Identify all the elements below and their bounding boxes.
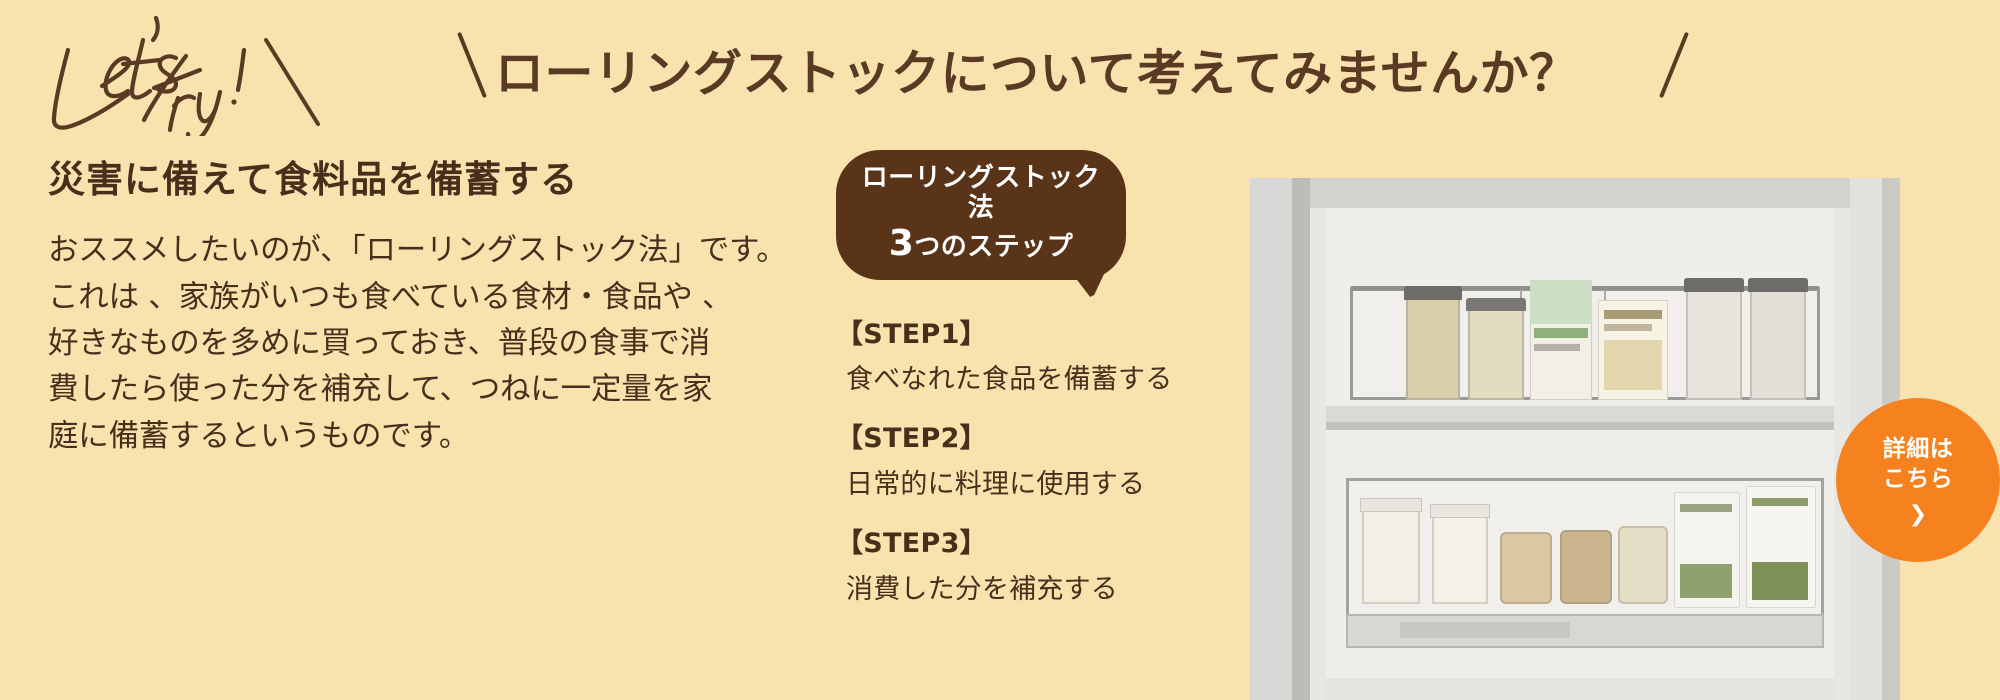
steps-column: ローリングストック法 3つのステップ 【STEP1】 食べなれた食品を備蓄する …: [836, 150, 1166, 606]
rolling-stock-banner: ローリングストックについて考えてみませんか？ 災害に備えて食料品を備蓄する おス…: [0, 0, 2000, 700]
lets-try-script-logo: [28, 6, 388, 136]
cta-label-line-1: 詳細は: [1883, 435, 1954, 465]
bubble-step-count: 3: [889, 223, 915, 264]
step-text: 食べなれた食品を備蓄する: [836, 357, 1166, 396]
pantry-photo: [1250, 178, 1900, 700]
photo-cabinet-left-shadow: [1292, 178, 1310, 700]
photo-jar-cereal: [1468, 308, 1524, 400]
photo-cabinet-left-wall: [1250, 178, 1292, 700]
photo-pouch-label: [1680, 504, 1732, 512]
photo-pouch-band: [1680, 564, 1732, 598]
photo-jar-lid: [1466, 298, 1526, 311]
photo-drawer-label: [1400, 622, 1570, 638]
step-item: 【STEP2】 日常的に料理に使用する: [836, 422, 1166, 501]
photo-jar-lid: [1684, 278, 1744, 292]
steps-list: 【STEP1】 食べなれた食品を備蓄する 【STEP2】 日常的に料理に使用する…: [836, 318, 1166, 606]
photo-canister-lid: [1360, 498, 1422, 512]
three-steps-speech-bubble: ローリングストック法 3つのステップ: [836, 150, 1126, 280]
photo-canister-white: [1362, 508, 1420, 604]
banner-header: ローリングストックについて考えてみませんか？: [0, 0, 2000, 140]
photo-jar-lid: [1748, 278, 1808, 292]
step-label: 【STEP3】: [836, 527, 1166, 561]
chevron-right-icon: ❯: [1909, 503, 1927, 525]
photo-jar-grains: [1406, 296, 1460, 400]
bubble-step-count-suffix: つのステップ: [914, 232, 1073, 262]
photo-box-label-green: [1530, 280, 1592, 324]
photo-canister-lid: [1430, 504, 1490, 518]
photo-jar-small: [1618, 526, 1668, 604]
step-item: 【STEP1】 食べなれた食品を備蓄する: [836, 318, 1166, 397]
photo-shelf-board: [1326, 406, 1834, 422]
photo-jar-small: [1560, 530, 1612, 604]
photo-pouch-band: [1752, 562, 1808, 600]
photo-jar-clear: [1686, 288, 1742, 400]
photo-canister-white: [1432, 514, 1488, 604]
body-line: おススメしたいのが、「ローリングストック法」です。: [48, 228, 668, 274]
photo-shelf-board-edge: [1326, 422, 1834, 430]
bubble-line-1: ローリングストック法: [854, 164, 1108, 224]
details-cta-button[interactable]: 詳細は こちら ❯: [1836, 398, 2000, 562]
photo-cabinet-top-panel: [1310, 178, 1850, 208]
step-label: 【STEP1】: [836, 318, 1166, 352]
photo-jar-lid: [1404, 286, 1462, 300]
bubble-line-2: 3つのステップ: [854, 226, 1108, 264]
body-paragraph: おススメしたいのが、「ローリングストック法」です。 これは 、家族がいつも食べて…: [48, 228, 668, 460]
photo-box-illustration: [1604, 340, 1662, 390]
step-text: 日常的に料理に使用する: [836, 462, 1166, 501]
photo-box-text-line: [1534, 344, 1580, 351]
left-text-column: 災害に備えて食料品を備蓄する おススメしたいのが、「ローリングストック法」です。…: [48, 158, 668, 460]
body-line: 費したら使った分を補充して、つねに一定量を家: [48, 367, 668, 413]
body-line: これは 、家族がいつも食べている食材・食品や 、: [48, 275, 668, 321]
headline-slash-right-decoration: [1659, 32, 1689, 98]
photo-jar-clear: [1750, 288, 1806, 400]
photo-box-text-line: [1604, 310, 1662, 319]
photo-box-text-line: [1534, 328, 1588, 338]
banner-headline: ローリングストックについて考えてみませんか？: [495, 34, 1579, 105]
photo-bottom-shelf: [1326, 678, 1834, 700]
cta-label-line-2: こちら: [1883, 465, 1954, 495]
section-sub-heading: 災害に備えて食料品を備蓄する: [48, 158, 668, 202]
step-text: 消費した分を補充する: [836, 567, 1166, 606]
headline-slash-left-decoration: [457, 32, 487, 98]
body-line: 好きなものを多めに買っておき、普段の食事で消: [48, 321, 668, 367]
step-item: 【STEP3】 消費した分を補充する: [836, 527, 1166, 606]
step-label: 【STEP2】: [836, 422, 1166, 456]
photo-jar-small: [1500, 532, 1552, 604]
photo-box-text-line: [1604, 324, 1652, 331]
photo-pouch-label: [1752, 498, 1808, 506]
body-line: 庭に備蓄するというものです。: [48, 414, 668, 460]
